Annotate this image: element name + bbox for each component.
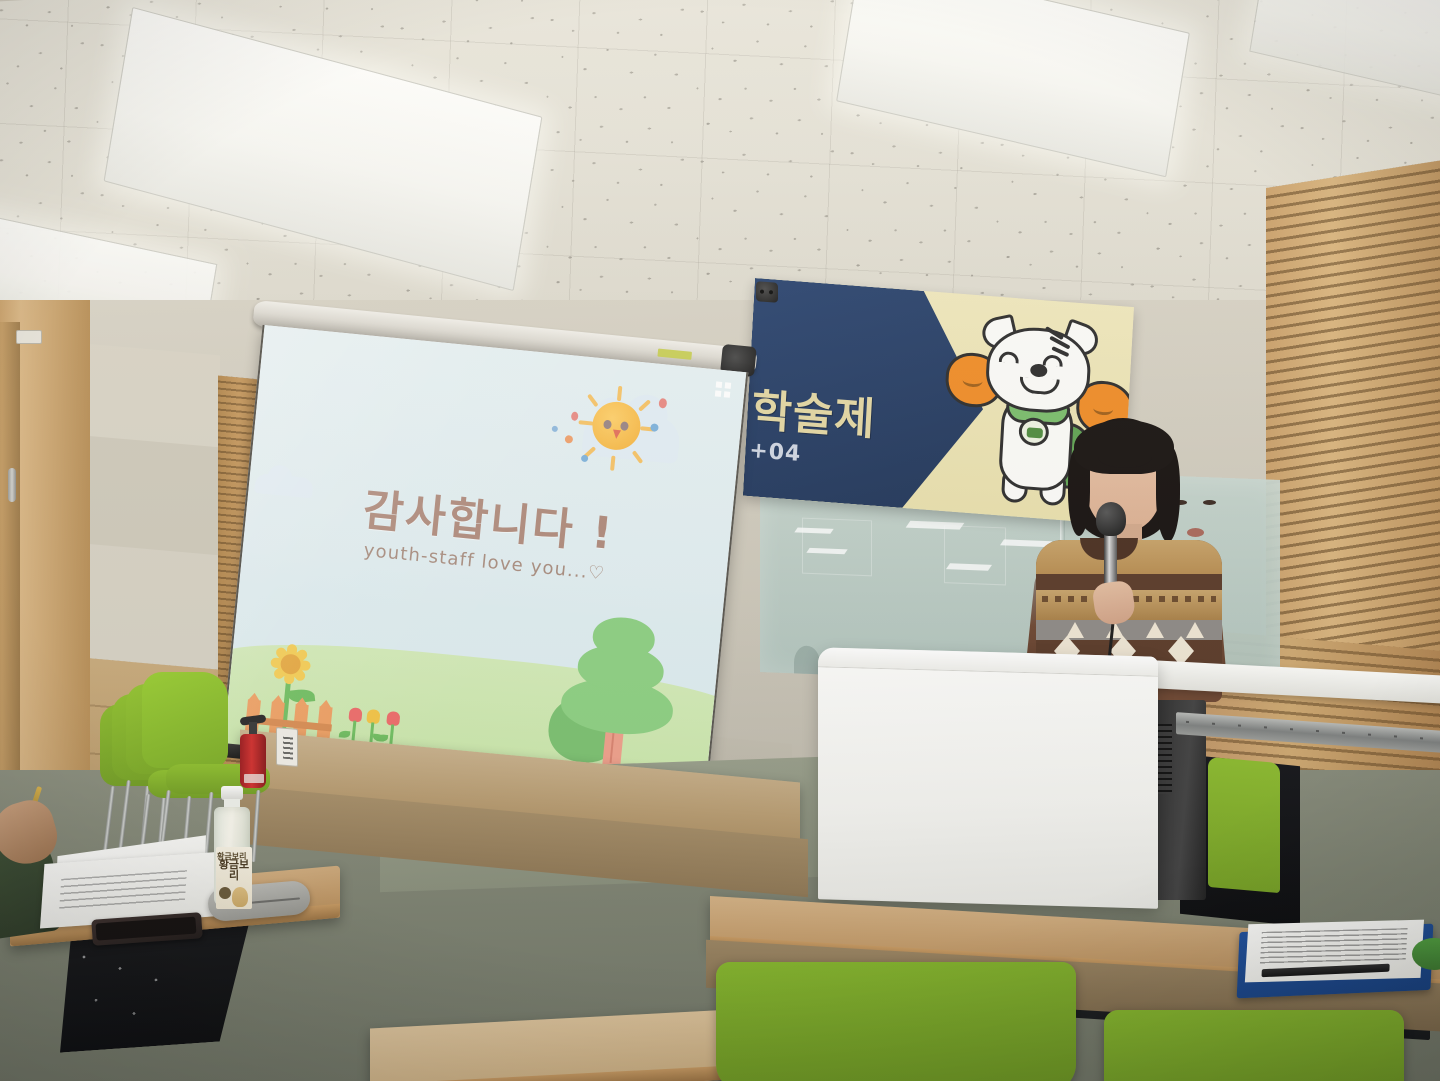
mouth [1187, 528, 1204, 537]
lectern [818, 647, 1158, 908]
green-chair[interactable] [716, 962, 1076, 1081]
door-handle[interactable] [8, 468, 16, 502]
blue-clipboard[interactable] [1237, 924, 1434, 999]
sunflower-icon [268, 641, 314, 687]
seminar-room-photo: 학술제 +04 [0, 0, 1440, 1081]
bottle-label: 황금보리 황금보리 [216, 847, 252, 909]
green-chair[interactable] [1104, 1010, 1404, 1081]
four-square-logo-icon [715, 381, 731, 397]
green-chair[interactable] [1208, 757, 1280, 893]
barley-tea-bottle[interactable]: 황금보리 황금보리 [212, 786, 252, 908]
extinguisher-body [240, 734, 266, 788]
glass-reflection-panel [802, 518, 872, 577]
pc-vent [1156, 724, 1172, 794]
bottle-body: 황금보리 황금보리 [214, 807, 250, 907]
sun-group [559, 381, 678, 487]
wall-sign [276, 727, 298, 767]
eye-right [1203, 500, 1216, 505]
glass-reflection-panel [944, 525, 1006, 585]
fire-extinguisher[interactable] [238, 716, 268, 792]
pine-tree-icon [551, 610, 686, 781]
bottle-brand-text: 황금보리 [216, 859, 252, 881]
ir-sensor [756, 281, 778, 303]
wheat-illustration [232, 887, 248, 907]
screen-canvas: 감사합니다 ! youth-staff love you...♡ [221, 325, 748, 795]
hair-bangs [1074, 420, 1174, 474]
extinguisher-label [244, 774, 264, 783]
presentation-slide: 감사합니다 ! youth-staff love you...♡ [223, 325, 746, 792]
bottle-seal-badge [219, 887, 231, 899]
door-hinge [16, 330, 42, 344]
banner-subtitle: +04 [749, 438, 802, 467]
microphone-icon[interactable] [1096, 502, 1126, 536]
bottle-cap [221, 786, 243, 800]
roller-label [657, 349, 692, 360]
